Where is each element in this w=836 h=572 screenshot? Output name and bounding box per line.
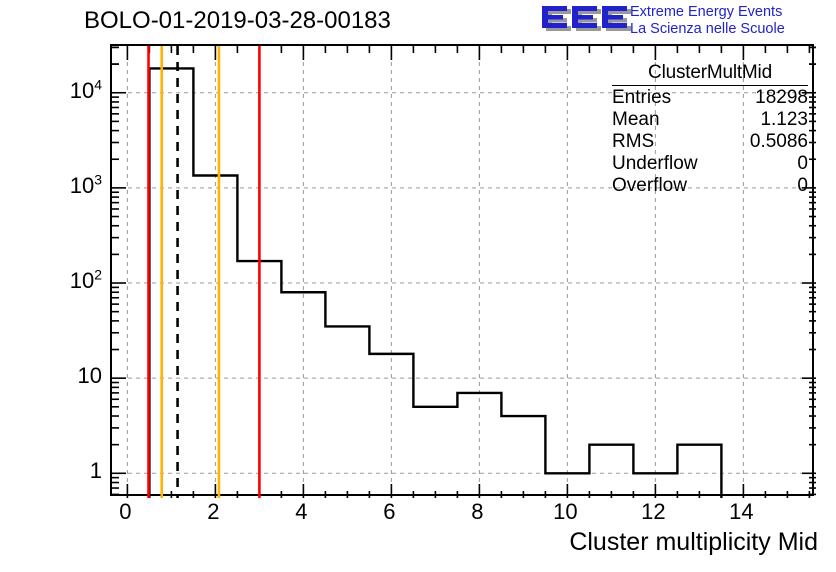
stats-key: Overflow	[612, 175, 687, 196]
x-tick-label: 12	[641, 499, 665, 525]
stats-key: Mean	[612, 109, 660, 130]
y-tick-label: 104	[70, 78, 102, 104]
stats-value: 18298	[755, 87, 808, 108]
x-tick-label: 2	[207, 499, 219, 525]
stats-value: 0.5086	[750, 131, 808, 152]
x-axis-title: Cluster multiplicity Mid	[569, 528, 818, 557]
stats-key: Entries	[612, 87, 671, 108]
x-tick-label: 8	[471, 499, 483, 525]
eee-logo: Extreme Energy Events La Scienza nelle S…	[540, 2, 836, 42]
y-axis-tick-labels: 110102103104	[0, 0, 102, 572]
stats-box: ClusterMultMid Entries18298Mean1.123RMS0…	[612, 62, 808, 196]
stats-row: Entries18298	[612, 86, 808, 108]
stats-value: 0	[797, 153, 808, 174]
stats-value: 1.123	[760, 109, 808, 130]
eee-tagline-1: Extreme Energy Events	[630, 4, 782, 20]
stats-row: RMS0.5086	[612, 130, 808, 152]
x-tick-label: 6	[383, 499, 395, 525]
histogram-canvas: BOLO-01-2019-03-28-00183	[0, 0, 836, 572]
x-tick-label: 0	[119, 499, 131, 525]
eee-tagline-2: La Scienza nelle Scuole	[630, 21, 785, 37]
y-tick-label: 103	[70, 173, 102, 199]
eee-mark-icon	[540, 2, 636, 38]
stats-key: Underflow	[612, 153, 698, 174]
x-tick-label: 4	[295, 499, 307, 525]
y-tick-label: 1	[90, 458, 102, 484]
stats-row: Underflow0	[612, 152, 808, 174]
page-title: BOLO-01-2019-03-28-00183	[84, 7, 391, 35]
y-tick-label: 10	[78, 363, 102, 389]
stats-box-title: ClusterMultMid	[612, 62, 808, 86]
stats-row: Overflow0	[612, 174, 808, 196]
y-tick-label: 102	[70, 268, 102, 294]
stats-value: 0	[797, 175, 808, 196]
stats-rows: Entries18298Mean1.123RMS0.5086Underflow0…	[612, 86, 808, 196]
x-tick-label: 14	[729, 499, 753, 525]
stats-key: RMS	[612, 131, 654, 152]
stats-row: Mean1.123	[612, 108, 808, 130]
x-tick-label: 10	[553, 499, 577, 525]
